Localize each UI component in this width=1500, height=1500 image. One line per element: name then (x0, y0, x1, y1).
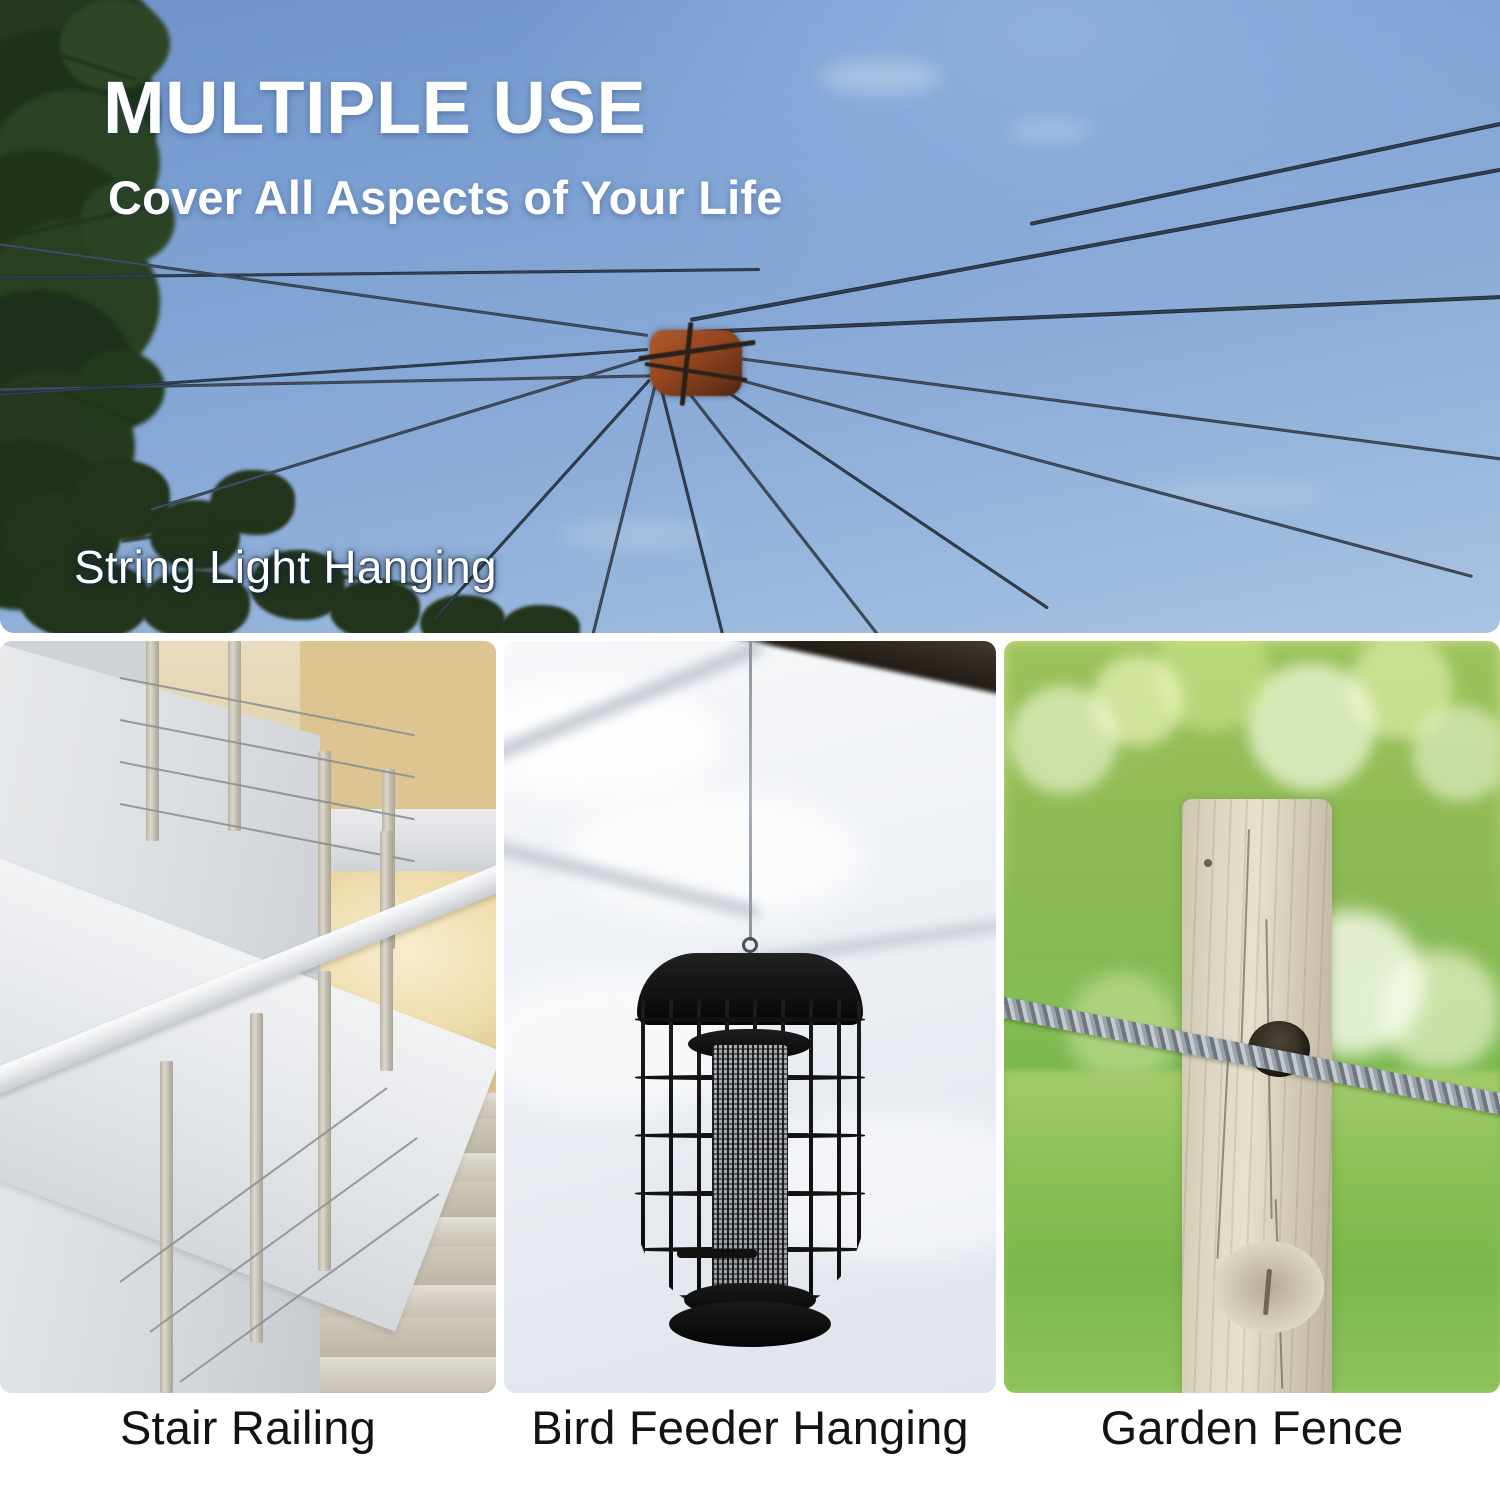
feeder-base-tray (669, 1301, 831, 1347)
railing-post (228, 641, 241, 831)
hero-title: MULTIPLE USE (103, 70, 646, 145)
panel-bird-feeder (504, 641, 996, 1393)
lower-foliage (0, 430, 640, 633)
caption-stair-railing: Stair Railing (0, 1400, 496, 1455)
panel-captions: Stair Railing Bird Feeder Hanging Garden… (0, 1400, 1500, 1500)
panel-stair-railing (0, 641, 496, 1393)
use-case-panels (0, 641, 1500, 1393)
hanging-wire (749, 641, 752, 941)
cloud-wisp (820, 60, 940, 94)
feeder-perch (677, 1249, 757, 1258)
hero-image-string-lights: MULTIPLE USE Cover All Aspects of Your L… (0, 0, 1500, 633)
railing-post (380, 831, 393, 1071)
cable-hub-bracket (650, 330, 742, 396)
caged-bird-feeder (625, 953, 875, 1353)
cloud-wisp (1010, 120, 1090, 142)
hanging-ring-icon (742, 937, 758, 953)
cloud-wisp (1150, 480, 1330, 508)
hero-subtitle: Cover All Aspects of Your Life (108, 170, 783, 225)
hero-caption-string-light: String Light Hanging (74, 540, 497, 594)
caption-garden-fence: Garden Fence (1004, 1400, 1500, 1455)
railing-post (160, 1061, 173, 1393)
caption-bird-feeder: Bird Feeder Hanging (504, 1400, 996, 1455)
product-feature-graphic: MULTIPLE USE Cover All Aspects of Your L… (0, 0, 1500, 1500)
panel-garden-fence (1004, 641, 1500, 1393)
wood-knot (1214, 1241, 1324, 1333)
railing-post (318, 971, 331, 1271)
